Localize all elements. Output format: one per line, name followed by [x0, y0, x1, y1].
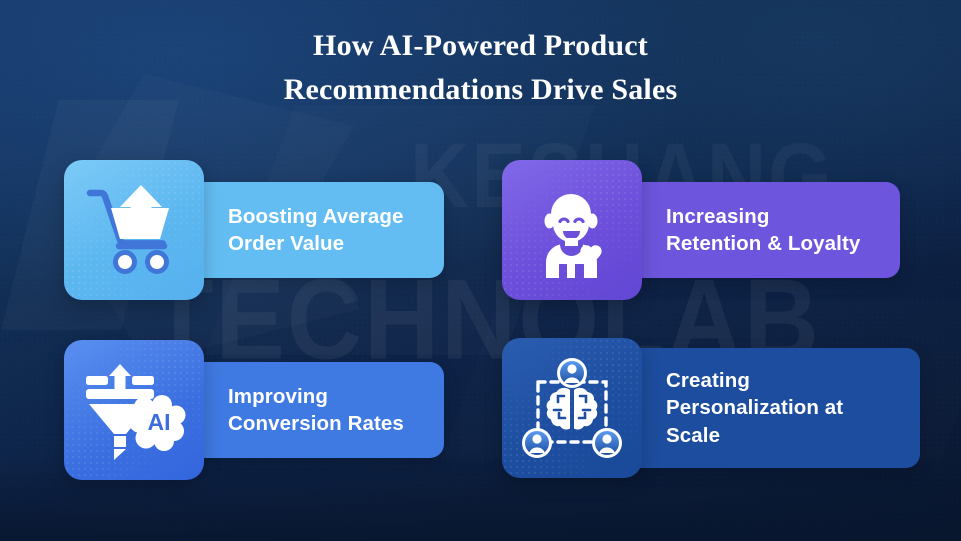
card-increasing-retention-loyalty[interactable]: Increasing Retention & Loyalty — [502, 160, 900, 300]
label-bar-aov: Boosting Average Order Value — [182, 182, 444, 278]
smiling-person-with-heart-icon — [522, 180, 622, 280]
label-text-aov: Boosting Average Order Value — [228, 203, 404, 258]
svg-text:AI: AI — [148, 409, 171, 435]
icon-tile-personalization — [502, 338, 642, 478]
infographic-slide: KESHANG TECHNOLAB How AI-Powered Product… — [0, 0, 961, 541]
page-title: How AI-Powered Product Recommendations D… — [0, 24, 961, 111]
card-boosting-average-order-value[interactable]: Boosting Average Order Value — [64, 160, 444, 300]
label-text-personalization: Creating Personalization at Scale — [666, 367, 843, 449]
brain-with-user-nodes-icon — [520, 356, 624, 460]
label-text-retention: Increasing Retention & Loyalty — [666, 203, 860, 258]
label-bar-retention: Increasing Retention & Loyalty — [620, 182, 900, 278]
label-bar-conversion: Improving Conversion Rates — [182, 362, 444, 458]
label-bar-personalization: Creating Personalization at Scale — [620, 348, 920, 468]
shopping-cart-up-arrow-icon — [86, 184, 182, 276]
card-improving-conversion-rates[interactable]: AI Improving Conversion Rates — [64, 340, 444, 480]
label-text-conversion: Improving Conversion Rates — [228, 383, 404, 438]
icon-tile-aov — [64, 160, 204, 300]
page-title-line-2: Recommendations Drive Sales — [0, 68, 961, 112]
page-title-line-1: How AI-Powered Product — [313, 29, 648, 62]
icon-tile-conversion: AI — [64, 340, 204, 480]
funnel-with-ai-brain-icon: AI — [82, 360, 186, 460]
icon-tile-retention — [502, 160, 642, 300]
card-creating-personalization-at-scale[interactable]: Creating Personalization at Scale — [502, 338, 920, 478]
